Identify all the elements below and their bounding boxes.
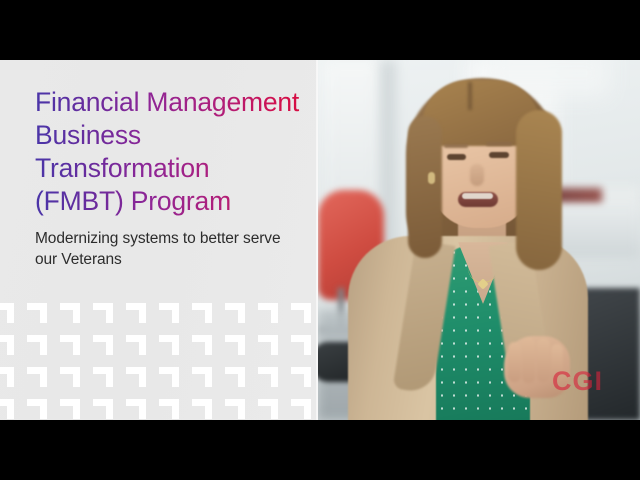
- motif-stub: [106, 335, 113, 355]
- motif-stub: [205, 367, 212, 387]
- motif-stub: [271, 367, 278, 387]
- cgi-watermark: CGI: [552, 366, 603, 397]
- motif-stub: [304, 399, 311, 419]
- motif-stub: [238, 335, 245, 355]
- corner-bracket-motif: [60, 303, 80, 323]
- corner-bracket-motif: [258, 367, 278, 387]
- corner-bracket-motif: [27, 303, 47, 323]
- eyebrow-left: [444, 144, 468, 148]
- corner-bracket-motif: [291, 367, 311, 387]
- corner-bracket-motif: [258, 335, 278, 355]
- motif-stub: [238, 367, 245, 387]
- corner-bracket-motif: [225, 335, 245, 355]
- motif-stub: [73, 399, 80, 419]
- corner-bracket-motif: [126, 303, 146, 323]
- motif-stub: [271, 303, 278, 323]
- corner-bracket-motif: [60, 335, 80, 355]
- corner-bracket-motif: [225, 303, 245, 323]
- video-player-stage: Financial Management Business Transforma…: [0, 0, 640, 480]
- corner-bracket-motif: [159, 367, 179, 387]
- corner-bracket-motif: [27, 367, 47, 387]
- corner-bracket-motif: [126, 335, 146, 355]
- video-content-band: Financial Management Business Transforma…: [0, 60, 640, 420]
- motif-stub: [40, 335, 47, 355]
- corner-bracket-motif: [291, 335, 311, 355]
- letterbox-bar-bottom: [0, 420, 640, 480]
- motif-stub: [106, 303, 113, 323]
- motif-stub: [271, 399, 278, 419]
- motif-stub: [172, 399, 179, 419]
- title-panel: Financial Management Business Transforma…: [0, 60, 318, 420]
- motif-stub: [7, 335, 14, 355]
- motif-stub: [40, 303, 47, 323]
- corner-bracket-motif: [291, 303, 311, 323]
- finger-3: [537, 338, 550, 382]
- motif-stub: [139, 367, 146, 387]
- corner-bracket-motif: [93, 399, 113, 419]
- slide-title: Financial Management Business Transforma…: [35, 86, 307, 218]
- motif-stub: [172, 335, 179, 355]
- corner-bracket-motif: [258, 303, 278, 323]
- corner-bracket-motif: [258, 399, 278, 419]
- motif-stub: [205, 335, 212, 355]
- title-line-3: Transformation: [35, 152, 307, 185]
- corner-bracket-motif: [159, 335, 179, 355]
- corner-bracket-motif: [0, 367, 14, 387]
- corner-bracket-motif: [93, 367, 113, 387]
- motif-stub: [304, 367, 311, 387]
- corner-bracket-motif: [225, 399, 245, 419]
- motif-stub: [238, 303, 245, 323]
- corner-bracket-motif: [60, 367, 80, 387]
- hair-lock-left: [408, 116, 442, 258]
- nose: [470, 164, 484, 186]
- video-frame[interactable]: CGI: [318, 60, 640, 420]
- corner-bracket-motif: [225, 367, 245, 387]
- motif-stub: [139, 335, 146, 355]
- corner-bracket-motif: [192, 335, 212, 355]
- motif-stub: [40, 399, 47, 419]
- corner-bracket-motif: [27, 399, 47, 419]
- motif-stub: [139, 303, 146, 323]
- motif-stub: [304, 335, 311, 355]
- motif-stub: [106, 399, 113, 419]
- corner-bracket-pattern: [0, 303, 318, 420]
- corner-bracket-motif: [60, 399, 80, 419]
- hair-part: [468, 82, 472, 110]
- motif-stub: [172, 303, 179, 323]
- corner-bracket-motif: [159, 303, 179, 323]
- corner-bracket-motif: [0, 335, 14, 355]
- slide-subtitle: Modernizing systems to better serve our …: [35, 228, 297, 270]
- motif-stub: [7, 399, 14, 419]
- motif-stub: [238, 399, 245, 419]
- eye-right: [489, 152, 509, 158]
- corner-bracket-motif: [0, 399, 14, 419]
- corner-bracket-motif: [27, 335, 47, 355]
- motif-stub: [139, 399, 146, 419]
- title-line-2: Business: [35, 119, 307, 152]
- motif-stub: [40, 367, 47, 387]
- eyebrow-right: [486, 142, 512, 146]
- finger-1: [508, 342, 521, 382]
- finger-2: [522, 337, 535, 383]
- motif-stub: [304, 303, 311, 323]
- motif-stub: [7, 303, 14, 323]
- corner-bracket-motif: [126, 399, 146, 419]
- title-line-1: Financial Management: [35, 86, 307, 119]
- corner-bracket-motif: [93, 303, 113, 323]
- eye-left: [447, 154, 466, 160]
- corner-bracket-motif: [192, 399, 212, 419]
- motif-stub: [205, 399, 212, 419]
- motif-stub: [172, 367, 179, 387]
- letterbox-bar-top: [0, 0, 640, 60]
- motif-stub: [73, 367, 80, 387]
- corner-bracket-motif: [291, 399, 311, 419]
- motif-stub: [106, 367, 113, 387]
- motif-stub: [271, 335, 278, 355]
- motif-stub: [73, 335, 80, 355]
- motif-stub: [73, 303, 80, 323]
- motif-stub: [205, 303, 212, 323]
- corner-bracket-motif: [159, 399, 179, 419]
- corner-bracket-motif: [192, 367, 212, 387]
- corner-bracket-motif: [0, 303, 14, 323]
- corner-bracket-motif: [192, 303, 212, 323]
- corner-bracket-motif: [126, 367, 146, 387]
- corner-bracket-motif: [93, 335, 113, 355]
- teeth: [462, 193, 493, 199]
- hair-lock-right: [516, 110, 562, 270]
- motif-stub: [7, 367, 14, 387]
- earring: [428, 172, 435, 184]
- title-line-4: (FMBT) Program: [35, 185, 307, 218]
